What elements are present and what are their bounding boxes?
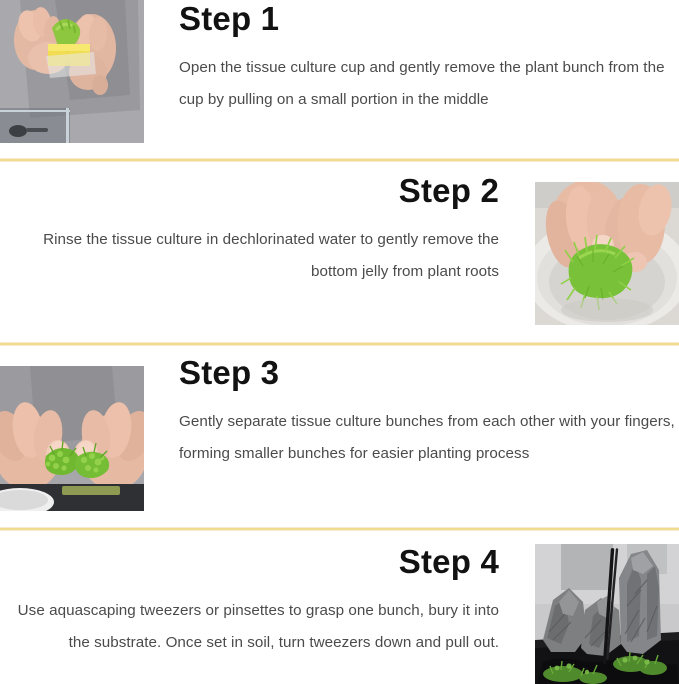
step-4-body: Use aquascaping tweezers or pinsettes to… — [0, 595, 499, 658]
step-row-1: Step 1 Open the tissue culture cup and g… — [0, 0, 679, 158]
step-4-heading: Step 4 — [0, 543, 499, 581]
step-2-heading: Step 2 — [0, 172, 499, 210]
aquascape-rocks-with-tweezers-planting-image — [535, 544, 679, 684]
step-2-text-block: Step 2 Rinse the tissue culture in dechl… — [0, 162, 535, 287]
step-3-text-block: Step 3 Gently separate tissue culture bu… — [144, 346, 679, 469]
step-2-photo — [535, 182, 679, 325]
step-4-photo — [535, 544, 679, 684]
step-row-2: Step 2 Rinse the tissue culture in dechl… — [0, 162, 679, 342]
step-1-heading: Step 1 — [179, 0, 679, 38]
step-row-3: Step 3 Gently separate tissue culture bu… — [0, 346, 679, 527]
step-1-text-block: Step 1 Open the tissue culture cup and g… — [144, 0, 679, 115]
hands-rinsing-plant-in-bowl-image — [535, 182, 679, 325]
step-3-photo — [0, 366, 144, 511]
hands-opening-tissue-culture-cup-image — [0, 0, 144, 143]
step-4-text-block: Step 4 Use aquascaping tweezers or pinse… — [0, 531, 535, 658]
step-row-4: Step 4 Use aquascaping tweezers or pinse… — [0, 531, 679, 684]
step-2-body: Rinse the tissue culture in dechlorinate… — [0, 224, 499, 287]
step-1-photo — [0, 0, 144, 143]
hands-separating-plant-bunches-image — [0, 366, 144, 511]
step-3-body: Gently separate tissue culture bunches f… — [179, 406, 679, 469]
step-3-heading: Step 3 — [179, 354, 679, 392]
planting-steps-guide: Step 1 Open the tissue culture cup and g… — [0, 0, 679, 684]
step-1-body: Open the tissue culture cup and gently r… — [179, 52, 679, 115]
